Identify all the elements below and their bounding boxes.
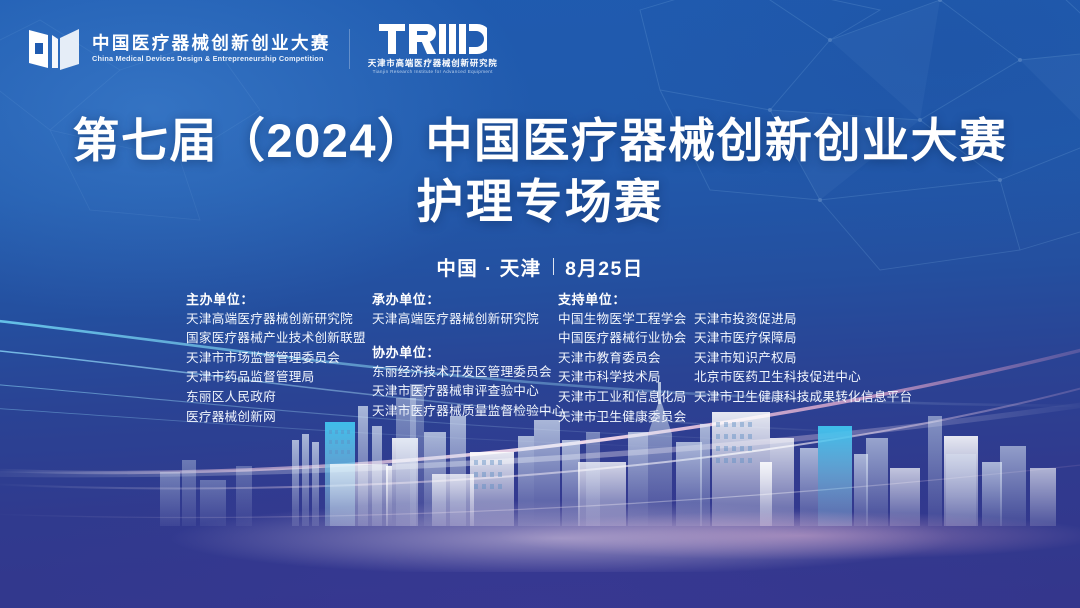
- poster-title-line1: 第七届（2024）中国医疗器械创新创业大赛: [0, 114, 1080, 169]
- list-item: 天津市教育委员会: [558, 349, 694, 369]
- list-item: 天津市卫生健康科技成果转化信息平台: [694, 388, 914, 408]
- list-item: 天津市工业和信息化局: [558, 388, 694, 408]
- list-item: 北京市医药卫生科技促进中心: [694, 368, 914, 388]
- organizer-column-undertaker: 承办单位： 天津高端医疗器械创新研究院 协办单位： 东丽经济技术开发区管理委员会…: [372, 290, 558, 422]
- event-location: 中国 · 天津: [436, 252, 541, 281]
- list-item: 医疗器械创新网: [186, 408, 372, 428]
- triid-wordmark-icon: [379, 22, 487, 56]
- organizer-column-supporters-a: 支持单位： 中国生物医学工程学会 中国医疗器械行业协会 天津市教育委员会 天津市…: [558, 290, 694, 427]
- poster-title-line2: 护理专场赛: [0, 175, 1080, 230]
- list-item: 天津高端医疗器械创新研究院: [186, 310, 372, 330]
- competition-logo: 中国医疗器械创新创业大赛 China Medical Devices Desig…: [26, 26, 331, 72]
- list-item: 国家医疗器械产业技术创新联盟: [186, 329, 372, 349]
- list-item: 天津市知识产权局: [694, 349, 914, 369]
- list-item: 天津高端医疗器械创新研究院: [372, 310, 558, 330]
- list-item: 天津市药品监督管理局: [186, 368, 372, 388]
- supporters-heading: 支持单位：: [558, 290, 694, 310]
- competition-logo-text: 中国医疗器械创新创业大赛 China Medical Devices Desig…: [92, 35, 331, 63]
- competition-name-en: China Medical Devices Design & Entrepren…: [92, 55, 336, 62]
- competition-name-cn: 中国医疗器械创新创业大赛: [92, 35, 331, 53]
- list-item: 东丽区人民政府: [186, 388, 372, 408]
- organizer-column-supporters-b: 支持单位： 天津市投资促进局 天津市医疗保障局 天津市知识产权局 北京市医药卫生…: [694, 290, 914, 408]
- organizer-column-host: 主办单位： 天津高端医疗器械创新研究院 国家医疗器械产业技术创新联盟 天津市市场…: [186, 290, 372, 427]
- list-item: 中国生物医学工程学会: [558, 310, 694, 330]
- supporters-group-a: 支持单位： 中国生物医学工程学会 中国医疗器械行业协会 天津市教育委员会 天津市…: [558, 290, 694, 427]
- list-item: 天津市投资促进局: [694, 310, 914, 330]
- institute-logo: 天津市高端医疗器械创新研究院 Tianjin Research Institut…: [368, 22, 498, 75]
- open-door-icon: [26, 26, 82, 72]
- host-group: 主办单位： 天津高端医疗器械创新研究院 国家医疗器械产业技术创新联盟 天津市市场…: [186, 290, 372, 427]
- list-item: 东丽经济技术开发区管理委员会: [372, 363, 558, 383]
- event-poster: 中国医疗器械创新创业大赛 China Medical Devices Desig…: [0, 0, 1080, 608]
- list-item: 天津市医疗器械审评查验中心: [372, 382, 558, 402]
- event-date: 8月25日: [565, 252, 644, 281]
- co-organizer-heading: 协办单位：: [372, 343, 558, 363]
- institute-name-cn: 天津市高端医疗器械创新研究院: [368, 59, 498, 67]
- supporters-group-b: 支持单位： 天津市投资促进局 天津市医疗保障局 天津市知识产权局 北京市医药卫生…: [694, 290, 914, 408]
- title-block: 第七届（2024）中国医疗器械创新创业大赛 护理专场赛 中国 · 天津 8月25…: [0, 114, 1080, 281]
- list-item: 天津市市场监督管理委员会: [186, 349, 372, 369]
- list-item: 天津市医疗器械质量监督检验中心: [372, 402, 558, 422]
- institute-name-en: Tianjin Research Institute for Advanced …: [373, 70, 493, 75]
- ground-light-glow: [0, 442, 1080, 572]
- list-item: 天津市医疗保障局: [694, 329, 914, 349]
- list-item: 天津市卫生健康委员会: [558, 408, 694, 428]
- organizers-section: 主办单位： 天津高端医疗器械创新研究院 国家医疗器械产业技术创新联盟 天津市市场…: [186, 290, 914, 427]
- list-item: 天津市科学技术局: [558, 368, 694, 388]
- co-organizer-group: 协办单位： 东丽经济技术开发区管理委员会 天津市医疗器械审评查验中心 天津市医疗…: [372, 343, 558, 421]
- undertaker-group: 承办单位： 天津高端医疗器械创新研究院: [372, 290, 558, 329]
- subtitle-divider: [553, 258, 555, 275]
- event-subtitle: 中国 · 天津 8月25日: [0, 252, 1080, 281]
- host-heading: 主办单位：: [186, 290, 372, 310]
- list-item: 中国医疗器械行业协会: [558, 329, 694, 349]
- logo-bar: 中国医疗器械创新创业大赛 China Medical Devices Desig…: [26, 22, 498, 75]
- undertaker-heading: 承办单位：: [372, 290, 558, 310]
- logo-divider: [349, 29, 350, 69]
